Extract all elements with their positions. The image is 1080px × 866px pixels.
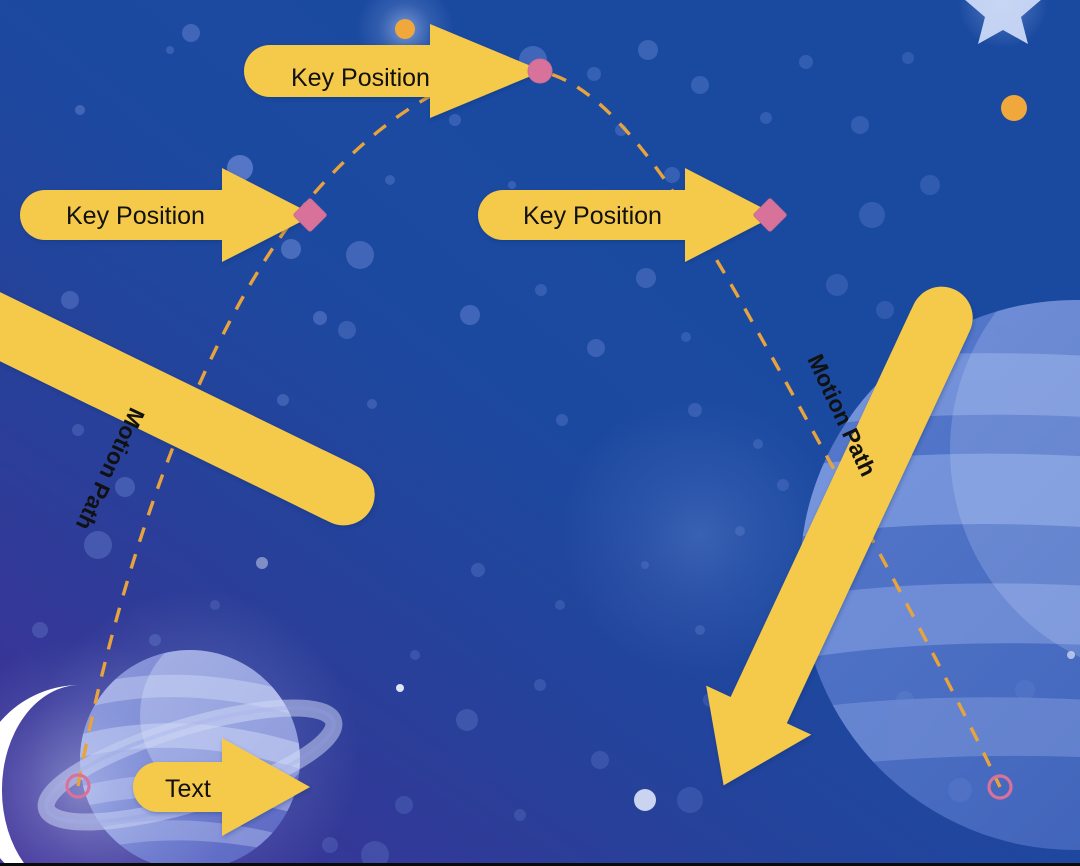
- callout-key-position-top[interactable]: [244, 24, 543, 118]
- callout-motion-path-left[interactable]: [0, 216, 397, 560]
- marker-key-right[interactable]: [753, 198, 787, 232]
- marker-apex[interactable]: [528, 59, 552, 83]
- space-scene-canvas: Key Position Key Position Key Position M…: [0, 0, 1080, 866]
- annotation-layer: [0, 0, 1080, 866]
- callout-key-position-right[interactable]: [478, 168, 776, 262]
- marker-key-left[interactable]: [293, 198, 327, 232]
- callout-key-position-left[interactable]: [20, 168, 314, 262]
- callout-motion-path-right[interactable]: [671, 265, 1007, 810]
- callout-text[interactable]: [133, 738, 310, 836]
